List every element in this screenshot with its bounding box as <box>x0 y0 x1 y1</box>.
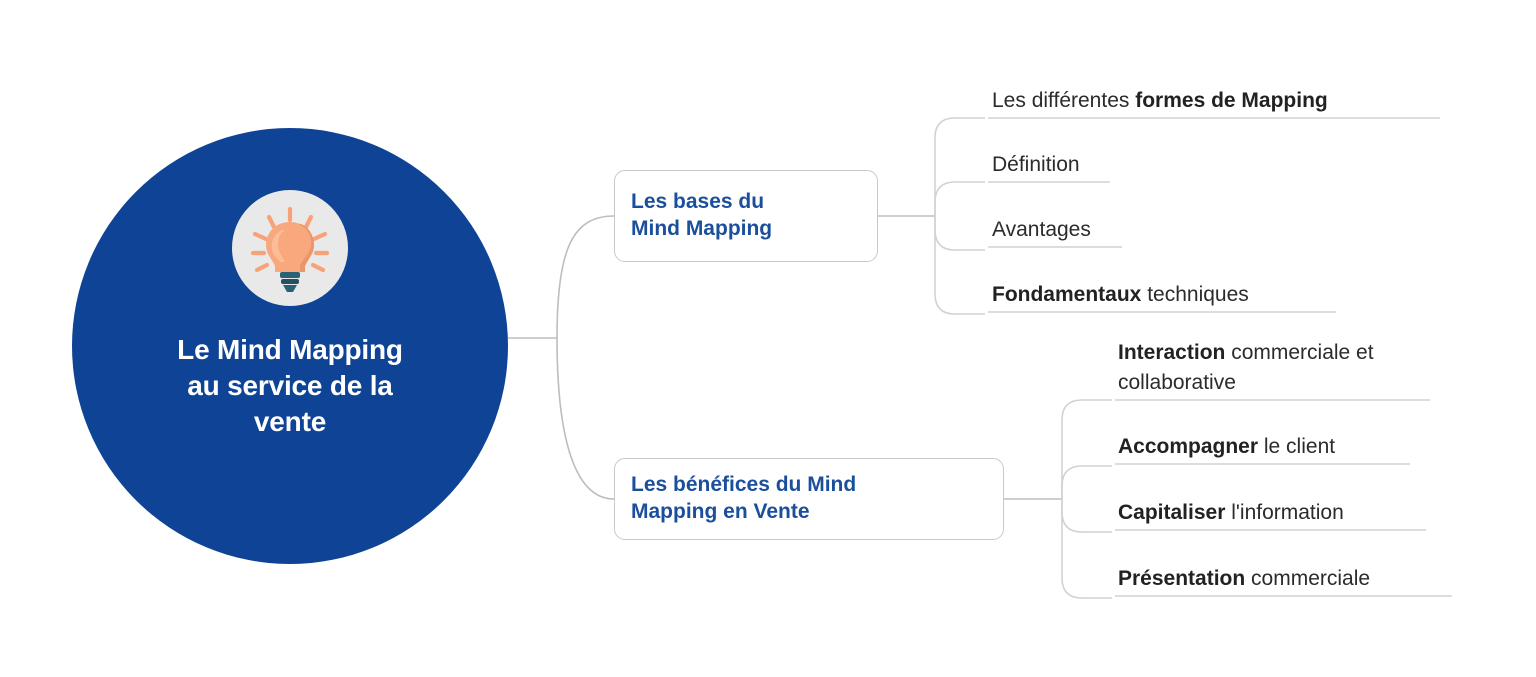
branch-1-inner-bracket <box>935 182 985 250</box>
spine-to-branch-1 <box>557 216 614 338</box>
leaf-text-regular: l'information <box>1225 501 1343 524</box>
branch-label-line-2: Mind Mapping <box>631 216 772 243</box>
branch-2-inner-bracket <box>1062 466 1112 532</box>
branch-label-bases: Les bases du Mind Mapping <box>631 189 772 243</box>
leaf-text-regular: Définition <box>992 153 1080 176</box>
leaf-text-regular: Avantages <box>992 218 1091 241</box>
leaf-item[interactable]: Les différentes formes de Mapping <box>992 86 1328 116</box>
root-title-line-1: Le Mind Mapping <box>125 332 455 368</box>
branch-label-line-2: Mapping en Vente <box>631 499 856 526</box>
leaf-item[interactable]: Fondamentaux techniques <box>992 280 1249 310</box>
lightbulb-icon <box>242 200 338 296</box>
root-title: Le Mind Mapping au service de la vente <box>125 332 455 439</box>
leaf-text-strong: formes de Mapping <box>1135 89 1328 112</box>
branch-node-bases[interactable]: Les bases du Mind Mapping <box>614 170 878 262</box>
leaf-item[interactable]: Présentation commerciale <box>1118 564 1370 594</box>
branch-node-benefices[interactable]: Les bénéfices du Mind Mapping en Vente <box>614 458 1004 540</box>
branch-label-benefices: Les bénéfices du Mind Mapping en Vente <box>631 472 856 526</box>
leaf-item[interactable]: Avantages <box>992 215 1091 245</box>
branch-1-spine <box>935 118 985 314</box>
spine-to-branch-2 <box>557 338 614 499</box>
root-node[interactable]: Le Mind Mapping au service de la vente <box>72 128 508 564</box>
branch-label-line-1: Les bénéfices du Mind <box>631 472 856 499</box>
mind-map-canvas: Le Mind Mapping au service de la vente L… <box>0 0 1536 677</box>
leaf-text-strong: Capitaliser <box>1118 501 1225 524</box>
leaf-item[interactable]: Définition <box>992 150 1080 180</box>
leaf-text-strong: Présentation <box>1118 567 1245 590</box>
leaf-text-regular: commerciale <box>1245 567 1370 590</box>
leaf-item[interactable]: Accompagner le client <box>1118 432 1335 462</box>
leaf-text-strong: Fondamentaux <box>992 283 1141 306</box>
root-title-line-2: au service de la <box>125 368 455 404</box>
leaf-text-strong: Accompagner <box>1118 435 1258 458</box>
leaf-text-regular: le client <box>1258 435 1335 458</box>
leaf-text-regular: Les différentes <box>992 89 1135 112</box>
branch-2-spine <box>1062 400 1112 598</box>
lightbulb-badge <box>232 190 348 306</box>
leaf-text-regular: techniques <box>1141 283 1248 306</box>
leaf-item[interactable]: Interaction commerciale et collaborative <box>1118 338 1448 398</box>
root-title-line-3: vente <box>125 404 455 440</box>
branch-label-line-1: Les bases du <box>631 189 772 216</box>
leaf-text-strong: Interaction <box>1118 341 1225 364</box>
leaf-item[interactable]: Capitaliser l'information <box>1118 498 1344 528</box>
